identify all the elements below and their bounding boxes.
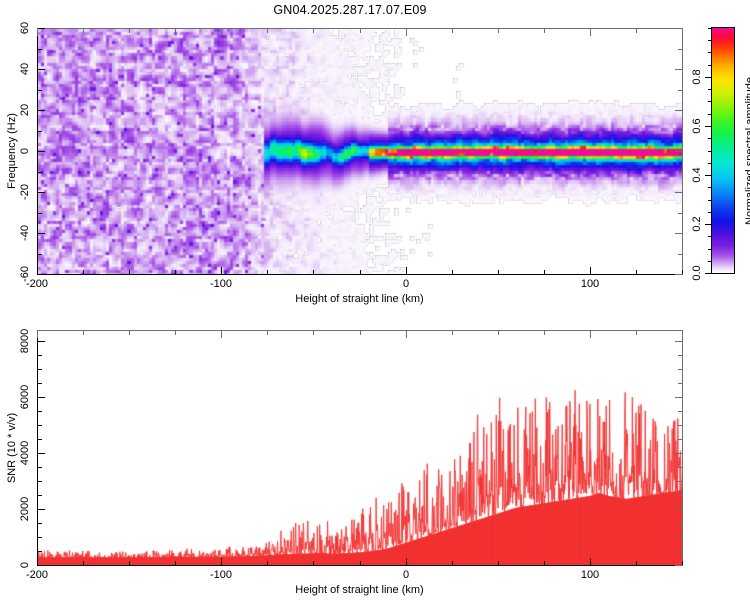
spectrogram-x-major-tick-top xyxy=(406,29,407,36)
spectrogram-x-tick-label: -100 xyxy=(210,278,232,290)
snr-y-minor-tick-right xyxy=(678,439,682,440)
snr-y-axis-label: SNR (10 * v/v) xyxy=(6,412,18,482)
spectrogram-x-minor-tick-top xyxy=(544,29,545,33)
spectrogram-x-minor-tick xyxy=(544,270,545,274)
spectrogram-y-major-tick xyxy=(38,69,45,70)
spectrogram-y-minor-tick xyxy=(38,90,42,91)
snr-y-tick-label: 0 xyxy=(19,562,31,568)
colorbar-minor-tick xyxy=(708,151,712,152)
snr-x-tick-label: -200 xyxy=(26,569,48,581)
spectrogram-x-minor-tick xyxy=(83,270,84,274)
snr-y-minor-tick xyxy=(38,383,42,384)
colorbar-major-tick xyxy=(705,224,712,225)
snr-x-minor-tick-top xyxy=(129,331,130,335)
snr-y-major-tick xyxy=(38,565,45,566)
spectrogram-y-minor-tick-right xyxy=(678,131,682,132)
snr-x-minor-tick-top xyxy=(682,331,683,335)
spectrogram-x-minor-tick-top xyxy=(360,29,361,33)
spectrogram-y-major-tick-right xyxy=(675,192,682,193)
snr-y-minor-tick-right xyxy=(678,481,682,482)
spectrogram-x-tick-label: 100 xyxy=(581,278,599,290)
snr-y-minor-tick xyxy=(38,369,42,370)
colorbar-label: Normalized spectral amplitude xyxy=(744,77,750,225)
snr-x-minor-tick xyxy=(682,561,683,565)
snr-x-tick-label: 100 xyxy=(581,569,599,581)
snr-x-tick-label: -100 xyxy=(210,569,232,581)
colorbar-minor-tick xyxy=(708,28,712,29)
snr-y-minor-tick-right xyxy=(678,523,682,524)
figure-root: GN04.2025.287.17.07.E09 Height of straig… xyxy=(0,0,750,600)
spectrogram-y-major-tick xyxy=(38,233,45,234)
snr-x-major-tick xyxy=(590,558,591,565)
snr-y-minor-tick-right xyxy=(678,355,682,356)
snr-x-minor-tick-top xyxy=(267,331,268,335)
colorbar-minor-tick xyxy=(708,163,712,164)
colorbar-minor-tick xyxy=(708,200,712,201)
snr-x-major-tick xyxy=(37,558,38,565)
spectrogram-x-minor-tick-top xyxy=(267,29,268,33)
spectrogram-y-major-tick-right xyxy=(675,151,682,152)
snr-x-minor-tick xyxy=(544,561,545,565)
spectrogram-y-minor-tick-right xyxy=(678,254,682,255)
colorbar-major-tick xyxy=(705,126,712,127)
colorbar-tick-label: 0.8 xyxy=(691,69,703,84)
colorbar-minor-tick xyxy=(708,114,712,115)
spectrogram-x-minor-tick xyxy=(313,270,314,274)
spectrogram-y-tick-label: -40 xyxy=(19,225,31,241)
snr-y-major-tick xyxy=(38,509,45,510)
snr-y-major-tick-right xyxy=(675,565,682,566)
spectrogram-y-major-tick xyxy=(38,274,45,275)
colorbar-gradient xyxy=(712,28,734,273)
colorbar-axis-top xyxy=(711,27,735,28)
colorbar-minor-tick xyxy=(708,40,712,41)
snr-y-minor-tick xyxy=(38,495,42,496)
spectrogram-y-minor-tick xyxy=(38,254,42,255)
colorbar-minor-tick xyxy=(708,65,712,66)
snr-x-minor-tick xyxy=(636,561,637,565)
spectrogram-x-minor-tick xyxy=(498,270,499,274)
spectrogram-y-tick-label: 20 xyxy=(19,104,31,116)
snr-x-major-tick xyxy=(221,558,222,565)
snr-x-minor-tick-top xyxy=(360,331,361,335)
snr-x-minor-tick-top xyxy=(636,331,637,335)
spectrogram-y-tick-label: -20 xyxy=(19,184,31,200)
snr-x-minor-tick-top xyxy=(498,331,499,335)
snr-x-major-tick xyxy=(406,558,407,565)
colorbar-axis-right xyxy=(734,27,735,274)
snr-y-minor-tick xyxy=(38,537,42,538)
spectrogram-x-minor-tick-top xyxy=(83,29,84,33)
spectrogram-y-major-tick xyxy=(38,110,45,111)
colorbar-tick-label: 0.4 xyxy=(691,167,703,182)
snr-x-major-tick-top xyxy=(221,331,222,338)
spectrogram-y-minor-tick-right xyxy=(678,90,682,91)
snr-x-minor-tick xyxy=(313,561,314,565)
colorbar-major-tick xyxy=(705,175,712,176)
colorbar-major-tick xyxy=(705,273,712,274)
snr-x-minor-tick xyxy=(83,561,84,565)
snr-axis-right xyxy=(682,330,683,566)
snr-y-tick-label: 2000 xyxy=(19,497,31,521)
colorbar-major-tick xyxy=(705,77,712,78)
snr-x-minor-tick xyxy=(360,561,361,565)
spectrogram-x-minor-tick-top xyxy=(129,29,130,33)
colorbar-tick-label: 0.0 xyxy=(691,265,703,280)
spectrogram-x-tick-label: 0 xyxy=(403,278,409,290)
snr-y-minor-tick-right xyxy=(678,537,682,538)
spectrogram-x-minor-tick xyxy=(129,270,130,274)
snr-y-minor-tick-right xyxy=(678,383,682,384)
spectrogram-x-minor-tick xyxy=(682,270,683,274)
spectrogram-x-major-tick-top xyxy=(221,29,222,36)
snr-x-minor-tick-top xyxy=(544,331,545,335)
colorbar-minor-tick xyxy=(708,138,712,139)
snr-x-minor-tick-top xyxy=(452,331,453,335)
spectrogram-y-tick-label: 40 xyxy=(19,63,31,75)
snr-y-minor-tick xyxy=(38,467,42,468)
colorbar-minor-tick xyxy=(708,236,712,237)
spectrogram-axis-right xyxy=(682,28,683,275)
spectrogram-y-minor-tick xyxy=(38,172,42,173)
snr-x-major-tick-top xyxy=(37,331,38,338)
spectrogram-x-minor-tick xyxy=(360,270,361,274)
spectrogram-y-major-tick-right xyxy=(675,110,682,111)
spectrogram-y-major-tick-right xyxy=(675,233,682,234)
spectrogram-y-major-tick-right xyxy=(675,28,682,29)
snr-x-minor-tick xyxy=(452,561,453,565)
snr-y-tick-label: 4000 xyxy=(19,441,31,465)
spectrogram-panel xyxy=(38,29,682,274)
snr-y-minor-tick-right xyxy=(678,495,682,496)
snr-y-minor-tick xyxy=(38,551,42,552)
spectrogram-axis-bottom xyxy=(37,274,683,275)
snr-axis-bottom xyxy=(37,565,683,566)
colorbar-minor-tick xyxy=(708,249,712,250)
snr-y-major-tick xyxy=(38,453,45,454)
snr-x-major-tick-top xyxy=(590,331,591,338)
spectrogram-x-minor-tick-top xyxy=(313,29,314,33)
colorbar-minor-tick xyxy=(708,101,712,102)
colorbar-tick-label: 0.2 xyxy=(691,216,703,231)
spectrogram-y-minor-tick xyxy=(38,131,42,132)
snr-x-minor-tick xyxy=(267,561,268,565)
snr-y-minor-tick-right xyxy=(678,467,682,468)
snr-y-minor-tick xyxy=(38,411,42,412)
colorbar-minor-tick xyxy=(708,187,712,188)
snr-x-minor-tick xyxy=(498,561,499,565)
snr-y-minor-tick-right xyxy=(678,551,682,552)
snr-y-tick-label: 8000 xyxy=(19,329,31,353)
spectrogram-x-major-tick-top xyxy=(590,29,591,36)
spectrogram-x-major-tick xyxy=(221,267,222,274)
snr-y-minor-tick-right xyxy=(678,425,682,426)
spectrogram-y-major-tick xyxy=(38,192,45,193)
spectrogram-x-minor-tick-top xyxy=(682,29,683,33)
spectrogram-y-major-tick-right xyxy=(675,69,682,70)
snr-panel xyxy=(38,331,682,565)
spectrogram-y-minor-tick-right xyxy=(678,213,682,214)
snr-y-minor-tick xyxy=(38,439,42,440)
spectrogram-x-minor-tick xyxy=(267,270,268,274)
colorbar-minor-tick xyxy=(708,52,712,53)
spectrogram-y-minor-tick xyxy=(38,213,42,214)
spectrogram-y-minor-tick xyxy=(38,49,42,50)
snr-x-minor-tick-top xyxy=(313,331,314,335)
colorbar-axis-bottom xyxy=(711,273,735,274)
snr-x-minor-tick-top xyxy=(175,331,176,335)
snr-y-major-tick-right xyxy=(675,397,682,398)
spectrogram-x-major-tick-top xyxy=(37,29,38,36)
spectrogram-x-minor-tick-top xyxy=(498,29,499,33)
spectrogram-y-major-tick xyxy=(38,28,45,29)
snr-y-minor-tick xyxy=(38,355,42,356)
snr-y-minor-tick xyxy=(38,481,42,482)
spectrogram-x-minor-tick xyxy=(175,270,176,274)
snr-x-axis-label: Height of straight line (km) xyxy=(295,584,423,596)
snr-y-minor-tick xyxy=(38,523,42,524)
snr-y-minor-tick xyxy=(38,425,42,426)
spectrogram-x-axis-label: Height of straight line (km) xyxy=(295,293,423,305)
colorbar-minor-tick xyxy=(708,89,712,90)
spectrogram-y-axis-label: Frequency (Hz) xyxy=(6,113,18,189)
snr-y-major-tick-right xyxy=(675,509,682,510)
colorbar-minor-tick xyxy=(708,261,712,262)
spectrogram-x-minor-tick xyxy=(452,270,453,274)
spectrogram-y-major-tick-right xyxy=(675,274,682,275)
snr-axis-left xyxy=(37,330,38,566)
snr-y-major-tick xyxy=(38,397,45,398)
spectrogram-x-major-tick xyxy=(37,267,38,274)
spectrogram-y-minor-tick-right xyxy=(678,172,682,173)
snr-y-minor-tick-right xyxy=(678,369,682,370)
snr-y-major-tick-right xyxy=(675,341,682,342)
snr-trace xyxy=(38,331,682,565)
spectrogram-image xyxy=(38,29,682,274)
spectrogram-x-minor-tick-top xyxy=(175,29,176,33)
snr-y-major-tick-right xyxy=(675,453,682,454)
spectrogram-y-major-tick xyxy=(38,151,45,152)
spectrogram-x-minor-tick-top xyxy=(452,29,453,33)
snr-x-minor-tick-top xyxy=(83,331,84,335)
snr-x-minor-tick xyxy=(129,561,130,565)
snr-x-major-tick-top xyxy=(406,331,407,338)
colorbar-minor-tick xyxy=(708,212,712,213)
spectrogram-x-minor-tick-top xyxy=(636,29,637,33)
figure-title: GN04.2025.287.17.07.E09 xyxy=(0,3,700,17)
snr-y-minor-tick-right xyxy=(678,411,682,412)
spectrogram-y-tick-label: 60 xyxy=(19,22,31,34)
snr-y-tick-label: 6000 xyxy=(19,385,31,409)
spectrogram-y-tick-label: 0 xyxy=(19,148,31,154)
snr-x-minor-tick xyxy=(175,561,176,565)
spectrogram-y-minor-tick-right xyxy=(678,49,682,50)
snr-y-major-tick xyxy=(38,341,45,342)
snr-x-tick-label: 0 xyxy=(403,569,409,581)
spectrogram-x-major-tick xyxy=(590,267,591,274)
colorbar-tick-label: 0.6 xyxy=(691,118,703,133)
spectrogram-x-minor-tick xyxy=(636,270,637,274)
spectrogram-y-tick-label: -60 xyxy=(19,266,31,282)
spectrogram-x-major-tick xyxy=(406,267,407,274)
